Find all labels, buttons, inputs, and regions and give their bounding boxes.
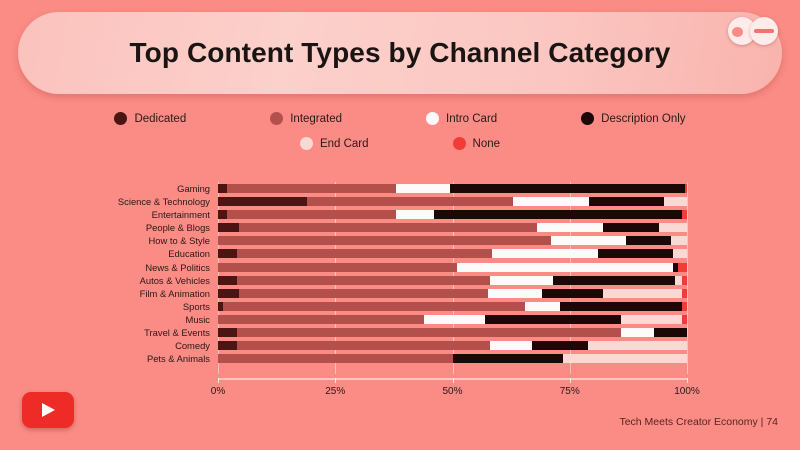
legend-item-intro-card[interactable]: Intro Card xyxy=(426,112,497,125)
bar-segment-none[interactable] xyxy=(678,263,687,272)
plot-area: GamingScience & TechnologyEntertainmentP… xyxy=(218,182,687,378)
category-label: Comedy xyxy=(175,339,210,352)
bar-row[interactable]: Entertainment xyxy=(218,208,687,221)
category-label: Entertainment xyxy=(152,208,210,221)
category-label: Film & Animation xyxy=(140,287,210,300)
legend-swatch-icon xyxy=(426,112,439,125)
bar-segment-integrated[interactable] xyxy=(218,315,424,324)
bar-segment-dedicated[interactable] xyxy=(218,210,227,219)
x-tick-label: 25% xyxy=(325,386,345,397)
legend-label: Intro Card xyxy=(446,113,497,125)
bar-segment-none[interactable] xyxy=(682,289,687,298)
title-banner: Top Content Types by Channel Category xyxy=(18,12,782,94)
stacked-bar-chart: GamingScience & TechnologyEntertainmentP… xyxy=(0,182,800,382)
legend-label: None xyxy=(473,138,501,150)
bar-segment-intro-card[interactable] xyxy=(488,289,542,298)
bar-segment-intro-card[interactable] xyxy=(396,184,450,193)
bar-segment-description-only[interactable] xyxy=(532,341,588,350)
bar-segment-end-card[interactable] xyxy=(621,315,682,324)
bar-segment-dedicated[interactable] xyxy=(218,249,237,258)
bar-segment-none[interactable] xyxy=(685,184,687,193)
legend-swatch-icon xyxy=(453,137,466,150)
bar-segment-description-only[interactable] xyxy=(654,328,687,337)
x-tick-label: 100% xyxy=(674,386,700,397)
chart-legend: Dedicated Integrated Intro Card Descript… xyxy=(0,112,800,150)
category-label: Autos & Vehicles xyxy=(140,274,210,287)
bar-segment-none[interactable] xyxy=(682,315,687,324)
bar-segment-description-only[interactable] xyxy=(598,249,673,258)
category-label: How to & Style xyxy=(149,234,210,247)
bar-segment-end-card[interactable] xyxy=(675,276,682,285)
bar-segment-integrated[interactable] xyxy=(237,276,490,285)
bar-segment-description-only[interactable] xyxy=(485,315,621,324)
bar-segment-integrated[interactable] xyxy=(227,184,396,193)
bar-segment-dedicated[interactable] xyxy=(218,197,307,206)
bar-segment-integrated[interactable] xyxy=(218,263,457,272)
bar-segment-integrated[interactable] xyxy=(239,223,537,232)
legend-item-integrated[interactable]: Integrated xyxy=(270,112,342,125)
bar-row[interactable]: Travel & Events xyxy=(218,326,687,339)
bar-row[interactable]: Autos & Vehicles xyxy=(218,274,687,287)
bar-segment-integrated[interactable] xyxy=(237,341,490,350)
bar-segment-none[interactable] xyxy=(682,302,687,311)
legend-item-end-card[interactable]: End Card xyxy=(300,137,369,150)
category-label: Science & Technology xyxy=(118,195,210,208)
category-label: Pets & Animals xyxy=(147,352,210,365)
bar-segment-integrated[interactable] xyxy=(223,302,526,311)
bar-segment-none[interactable] xyxy=(682,210,687,219)
bar-row[interactable]: Music xyxy=(218,313,687,326)
category-label: People & Blogs xyxy=(146,221,210,234)
x-tick xyxy=(335,378,336,383)
legend-label: Integrated xyxy=(290,113,342,125)
legend-row-2: End Card None xyxy=(0,137,800,150)
x-tick-label: 0% xyxy=(211,386,225,397)
category-label: Gaming xyxy=(177,182,210,195)
legend-label: Description Only xyxy=(601,113,685,125)
bar-segment-description-only[interactable] xyxy=(560,302,682,311)
page-title: Top Content Types by Channel Category xyxy=(130,37,671,69)
bar-segment-integrated[interactable] xyxy=(237,249,493,258)
category-label: Travel & Events xyxy=(144,326,210,339)
category-label: Music xyxy=(186,313,210,326)
bar-segment-description-only[interactable] xyxy=(589,197,664,206)
x-tick xyxy=(687,378,688,383)
category-label: Sports xyxy=(183,300,210,313)
bar-segment-integrated[interactable] xyxy=(237,328,622,337)
x-tick-label: 75% xyxy=(560,386,580,397)
bar-segment-description-only[interactable] xyxy=(453,354,563,363)
bar-segment-intro-card[interactable] xyxy=(513,197,588,206)
legend-swatch-icon xyxy=(270,112,283,125)
bar-segment-description-only[interactable] xyxy=(434,210,683,219)
bar-segment-description-only[interactable] xyxy=(553,276,675,285)
bar-segment-intro-card[interactable] xyxy=(537,223,603,232)
bar-row[interactable]: Pets & Animals xyxy=(218,352,687,365)
x-tick xyxy=(218,378,219,383)
bar-segment-integrated[interactable] xyxy=(307,197,513,206)
bar-segment-dedicated[interactable] xyxy=(218,276,237,285)
bar-segment-intro-card[interactable] xyxy=(621,328,654,337)
bar-segment-end-card[interactable] xyxy=(673,249,687,258)
bar-segment-end-card[interactable] xyxy=(603,289,683,298)
footer-credit: Tech Meets Creator Economy | 74 xyxy=(619,416,778,428)
bar-segment-dedicated[interactable] xyxy=(218,328,237,337)
bar-rows: GamingScience & TechnologyEntertainmentP… xyxy=(218,182,687,378)
bar-segment-end-card[interactable] xyxy=(588,341,686,350)
bar-segment-intro-card[interactable] xyxy=(490,276,553,285)
bar-segment-dedicated[interactable] xyxy=(218,289,239,298)
bar-row[interactable]: News & Politics xyxy=(218,261,687,274)
bar-row[interactable]: Sports xyxy=(218,300,687,313)
x-axis: 0%25%50%75%100% xyxy=(218,378,687,404)
logo-bar xyxy=(754,29,774,33)
bar-row[interactable]: Comedy xyxy=(218,339,687,352)
bar-segment-end-card[interactable] xyxy=(563,354,687,363)
category-label: News & Politics xyxy=(145,261,210,274)
x-tick xyxy=(570,378,571,383)
bar-row[interactable]: Education xyxy=(218,247,687,260)
logo-notch xyxy=(732,27,743,37)
bar-segment-dedicated[interactable] xyxy=(218,341,237,350)
legend-item-none[interactable]: None xyxy=(453,137,501,150)
legend-label: Dedicated xyxy=(134,113,186,125)
play-triangle xyxy=(42,403,55,417)
channel-logo-icon xyxy=(728,14,784,48)
bar-segment-end-card[interactable] xyxy=(659,223,687,232)
bar-segment-description-only[interactable] xyxy=(626,236,671,245)
bar-segment-intro-card[interactable] xyxy=(490,341,532,350)
x-tick xyxy=(453,378,454,383)
bar-segment-dedicated[interactable] xyxy=(218,223,239,232)
bar-segment-description-only[interactable] xyxy=(542,289,603,298)
bar-row[interactable]: Gaming xyxy=(218,182,687,195)
bar-segment-description-only[interactable] xyxy=(450,184,685,193)
legend-item-dedicated[interactable]: Dedicated xyxy=(114,112,186,125)
bar-segment-integrated[interactable] xyxy=(239,289,488,298)
legend-swatch-icon xyxy=(581,112,594,125)
legend-swatch-icon xyxy=(114,112,127,125)
x-tick-label: 50% xyxy=(442,386,462,397)
bar-segment-end-card[interactable] xyxy=(664,197,687,206)
legend-label: End Card xyxy=(320,138,369,150)
bar-row[interactable]: People & Blogs xyxy=(218,221,687,234)
legend-item-description-only[interactable]: Description Only xyxy=(581,112,685,125)
bar-row[interactable]: How to & Style xyxy=(218,234,687,247)
bar-segment-integrated[interactable] xyxy=(227,210,396,219)
legend-row-1: Dedicated Integrated Intro Card Descript… xyxy=(0,112,800,125)
bar-segment-intro-card[interactable] xyxy=(457,263,673,272)
bar-segment-end-card[interactable] xyxy=(671,236,687,245)
bar-segment-intro-card[interactable] xyxy=(424,315,485,324)
bar-row[interactable]: Film & Animation xyxy=(218,287,687,300)
youtube-play-icon xyxy=(22,392,74,428)
bar-segment-intro-card[interactable] xyxy=(396,210,434,219)
bar-segment-intro-card[interactable] xyxy=(551,236,626,245)
gridline xyxy=(687,182,688,374)
bar-segment-dedicated[interactable] xyxy=(218,184,227,193)
bar-segment-intro-card[interactable] xyxy=(525,302,560,311)
legend-swatch-icon xyxy=(300,137,313,150)
bar-segment-intro-card[interactable] xyxy=(492,249,598,258)
bar-segment-integrated[interactable] xyxy=(218,354,453,363)
bar-segment-none[interactable] xyxy=(682,276,687,285)
bar-segment-description-only[interactable] xyxy=(603,223,659,232)
category-label: Education xyxy=(168,247,210,260)
bar-row[interactable]: Science & Technology xyxy=(218,195,687,208)
bar-segment-integrated[interactable] xyxy=(218,236,551,245)
